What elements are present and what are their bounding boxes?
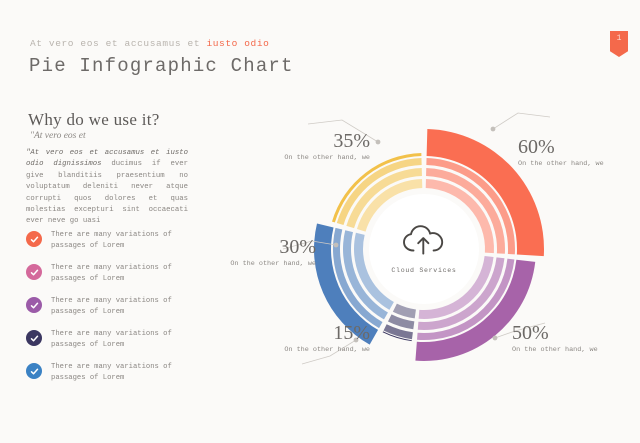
list-item[interactable]: There are many variations of passages of…	[26, 360, 191, 384]
callout-35: 35% On the other hand, we	[230, 131, 370, 162]
callout-percent: 30%	[176, 237, 316, 257]
chart-center-hub: Cloud Services	[369, 194, 479, 304]
list-item-label: There are many variations of passages of…	[51, 261, 191, 285]
list-item-label: There are many variations of passages of…	[51, 228, 191, 252]
callout-60: 60% On the other hand, we	[518, 137, 604, 168]
check-icon	[26, 330, 42, 346]
list-item[interactable]: There are many variations of passages of…	[26, 294, 191, 318]
callout-caption: On the other hand, we	[176, 260, 316, 268]
callout-caption: On the other hand, we	[230, 346, 370, 354]
callout-percent: 50%	[512, 323, 598, 343]
callout-caption: On the other hand, we	[512, 346, 598, 354]
chart-center-label: Cloud Services	[391, 267, 456, 274]
eyebrow-text: At vero eos et accusamus et iusto odio	[30, 38, 269, 49]
eyebrow-highlight: iusto odio	[206, 38, 269, 49]
check-icon	[26, 264, 42, 280]
legend-list: There are many variations of passages of…	[26, 228, 191, 393]
donut-inner-ring	[393, 304, 416, 319]
callout-percent: 15%	[230, 323, 370, 343]
check-icon	[26, 231, 42, 247]
list-item-label: There are many variations of passages of…	[51, 294, 191, 318]
check-icon	[26, 297, 42, 313]
page-title: Pie Infographic Chart	[29, 55, 294, 77]
callout-15: 15% On the other hand, we	[230, 323, 370, 354]
cloud-upload-icon	[401, 224, 447, 261]
list-item-label: There are many variations of passages of…	[51, 327, 191, 351]
section-subheading: "At vero eos et	[30, 131, 86, 141]
callout-percent: 35%	[230, 131, 370, 151]
callout-caption: On the other hand, we	[518, 160, 604, 168]
paragraph-rest: ducimus if ever give blanditiis praesent…	[26, 160, 188, 225]
callout-caption: On the other hand, we	[230, 154, 370, 162]
list-item-label: There are many variations of passages of…	[51, 360, 191, 384]
donut-chart: Cloud Services 60% On the other hand, we…	[250, 95, 640, 415]
callout-30: 30% On the other hand, we	[176, 237, 316, 268]
body-paragraph: "At vero eos et accusamus et iusto odio …	[26, 148, 188, 228]
eyebrow-plain: At vero eos et accusamus et	[30, 38, 206, 49]
callout-50: 50% On the other hand, we	[512, 323, 598, 354]
list-item[interactable]: There are many variations of passages of…	[26, 261, 191, 285]
callout-percent: 60%	[518, 137, 604, 157]
slide-canvas: At vero eos et accusamus et iusto odio P…	[0, 0, 640, 443]
check-icon	[26, 363, 42, 379]
list-item[interactable]: There are many variations of passages of…	[26, 327, 191, 351]
section-heading: Why do we use it?	[28, 110, 160, 130]
slide-number-badge: 1	[610, 31, 628, 57]
list-item[interactable]: There are many variations of passages of…	[26, 228, 191, 252]
